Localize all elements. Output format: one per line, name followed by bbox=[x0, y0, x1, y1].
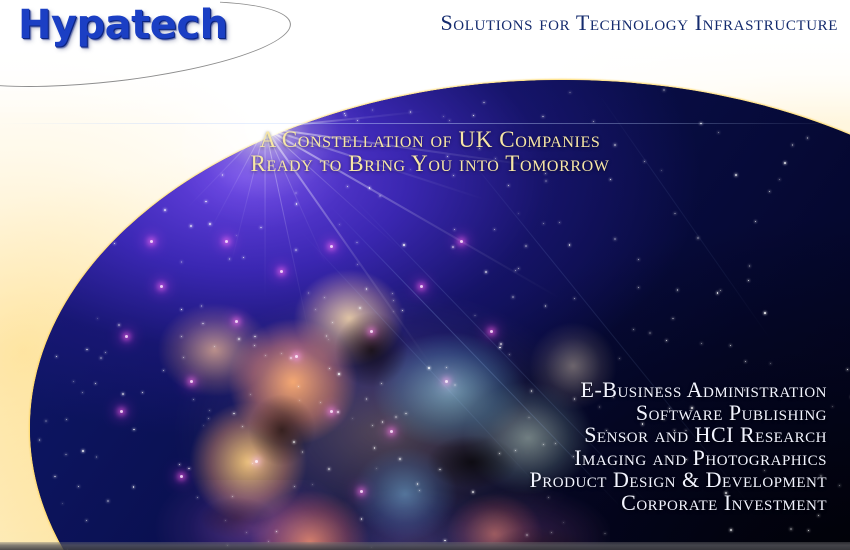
bottom-border bbox=[0, 542, 850, 550]
hypatech-banner: Hypatech Solutions for Technology Infras… bbox=[0, 0, 850, 550]
service-item: Software Publishing bbox=[530, 402, 827, 425]
service-item: Corporate Investment bbox=[530, 492, 827, 515]
headline-line-2: Ready to Bring You into Tomorrow bbox=[150, 152, 710, 176]
service-item: Imaging and Photographics bbox=[530, 447, 827, 470]
hero-headline: A Constellation of UK Companies Ready to… bbox=[150, 128, 710, 176]
logo[interactable]: Hypatech bbox=[0, 0, 330, 70]
logo-text: Hypatech bbox=[18, 2, 228, 48]
service-item: Product Design & Development bbox=[530, 469, 827, 492]
headline-line-1: A Constellation of UK Companies bbox=[150, 128, 710, 152]
service-item: Sensor and HCI Research bbox=[530, 424, 827, 447]
tagline: Solutions for Technology Infrastructure bbox=[440, 10, 838, 36]
services-list: E-Business AdministrationSoftware Publis… bbox=[530, 379, 827, 514]
service-item: E-Business Administration bbox=[530, 379, 827, 402]
